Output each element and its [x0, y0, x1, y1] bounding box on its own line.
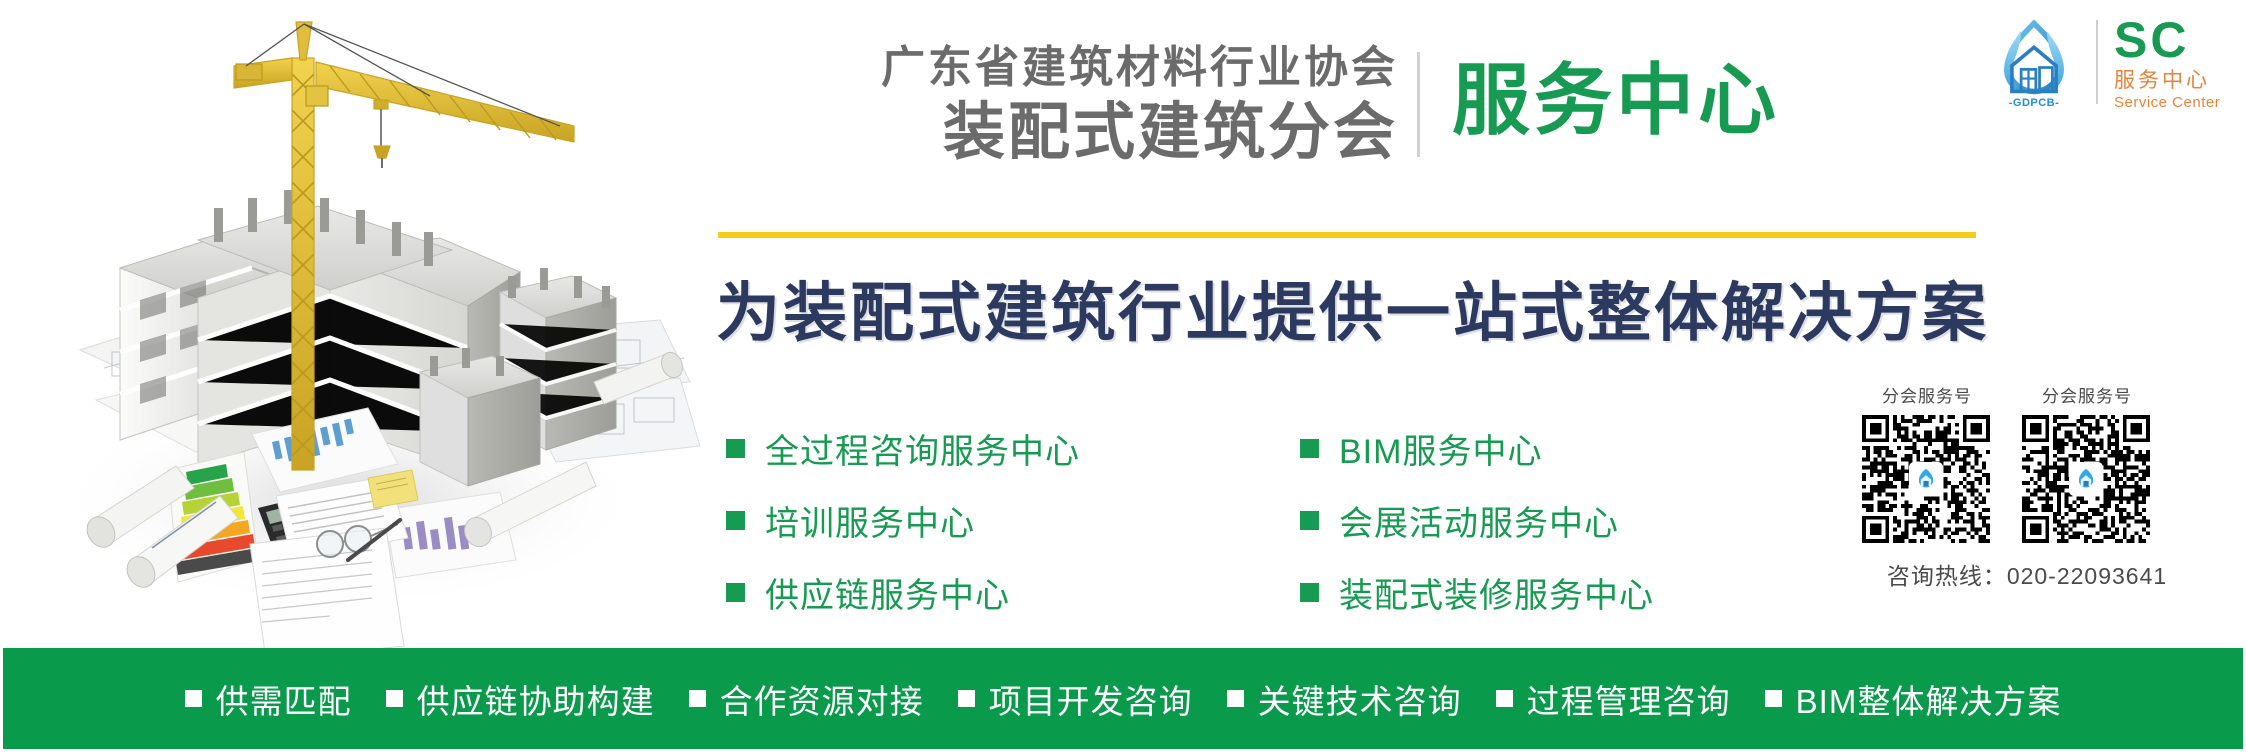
- qr-center-logo: [2069, 462, 2103, 496]
- square-bullet-icon: [1300, 511, 1319, 530]
- sc-service-center-logo: -GDPCB- SC 服务中心 Service Center: [1988, 14, 2220, 110]
- association-name: 广东省建筑材料行业协会: [838, 42, 1398, 94]
- service-item[interactable]: 供应链服务中心: [726, 556, 1080, 628]
- gold-divider-rule: [718, 232, 1976, 238]
- gdpcb-mini-icon: [2073, 466, 2099, 492]
- footer-item[interactable]: 过程管理咨询: [1496, 675, 1731, 723]
- footer-item-label: 供需匹配: [216, 675, 352, 723]
- service-item-label: BIM服务中心: [1339, 424, 1542, 473]
- square-bullet-icon: [386, 690, 403, 707]
- organisation-name-block: 广东省建筑材料行业协会 装配式建筑分会: [838, 42, 1398, 169]
- qr-contact-area: 分会服务号 分会服务号: [1862, 382, 2192, 591]
- square-bullet-icon: [185, 690, 202, 707]
- footer-item-label: 供应链协助构建: [417, 675, 655, 723]
- square-bullet-icon: [1300, 439, 1319, 458]
- sc-chinese-label: 服务中心: [2114, 70, 2220, 91]
- qr-cell: 分会服务号: [2022, 382, 2152, 543]
- square-bullet-icon: [958, 690, 975, 707]
- footer-item-label: 项目开发咨询: [989, 675, 1193, 723]
- sc-english-label: Service Center: [2114, 95, 2220, 110]
- square-bullet-icon: [1300, 583, 1319, 602]
- gdpcb-flame-house-icon: [1988, 16, 2080, 108]
- footer-item-label: 关键技术咨询: [1258, 675, 1462, 723]
- footer-item[interactable]: 供需匹配: [185, 675, 352, 723]
- service-item-label: 装配式装修服务中心: [1339, 568, 1654, 617]
- qr-cell: 分会服务号: [1862, 382, 1992, 543]
- service-center-heading: 服务中心: [1452, 52, 1780, 150]
- sc-letters: SC: [2114, 15, 2220, 65]
- tower-crane-svg: [0, 0, 700, 648]
- service-list-left: 全过程咨询服务中心 培训服务中心 供应链服务中心: [726, 412, 1080, 628]
- footer-item[interactable]: 供应链协助构建: [386, 675, 655, 723]
- qr-caption: 分会服务号: [1862, 382, 1992, 407]
- service-item-label: 全过程咨询服务中心: [765, 424, 1080, 473]
- gdpcb-mini-icon: [1913, 466, 1939, 492]
- square-bullet-icon: [1496, 690, 1513, 707]
- square-bullet-icon: [1227, 690, 1244, 707]
- qr-code-image[interactable]: [1862, 415, 1990, 543]
- square-bullet-icon: [726, 583, 745, 602]
- service-item[interactable]: 会展活动服务中心: [1300, 484, 1654, 556]
- qr-code-image[interactable]: [2022, 415, 2150, 543]
- main-slogan: 为装配式建筑行业提供一站式整体解决方案: [716, 262, 1989, 354]
- footer-item-label: 过程管理咨询: [1527, 675, 1731, 723]
- service-item-label: 培训服务中心: [765, 496, 975, 545]
- promotional-banner: 广东省建筑材料行业协会 装配式建筑分会 服务中心 为装配式建筑行业提供一站式整体…: [0, 0, 2246, 752]
- footer-item[interactable]: 关键技术咨询: [1227, 675, 1462, 723]
- construction-illustration: [0, 0, 700, 648]
- square-bullet-icon: [726, 511, 745, 530]
- logo-vertical-divider: [2096, 20, 2098, 104]
- gdpcb-caption: -GDPCB-: [1988, 97, 2080, 109]
- square-bullet-icon: [1765, 690, 1782, 707]
- footer-item-label: BIM整体解决方案: [1796, 675, 2062, 723]
- service-item[interactable]: 培训服务中心: [726, 484, 1080, 556]
- sc-text-block: SC 服务中心 Service Center: [2114, 15, 2220, 110]
- qr-center-logo: [1909, 462, 1943, 496]
- qr-caption: 分会服务号: [2022, 382, 2152, 407]
- branch-name: 装配式建筑分会: [838, 96, 1398, 169]
- footer-item[interactable]: 项目开发咨询: [958, 675, 1193, 723]
- square-bullet-icon: [726, 439, 745, 458]
- header-vertical-divider: [1417, 52, 1420, 157]
- footer-item[interactable]: BIM整体解决方案: [1765, 675, 2062, 723]
- gdpcb-logo-icon: -GDPCB-: [1988, 16, 2080, 108]
- square-bullet-icon: [689, 690, 706, 707]
- service-item[interactable]: 全过程咨询服务中心: [726, 412, 1080, 484]
- service-item-label: 供应链服务中心: [765, 568, 1010, 617]
- service-item-label: 会展活动服务中心: [1339, 496, 1619, 545]
- footer-item[interactable]: 合作资源对接: [689, 675, 924, 723]
- service-item[interactable]: BIM服务中心: [1300, 412, 1654, 484]
- footer-capabilities-bar: 供需匹配 供应链协助构建 合作资源对接 项目开发咨询 关键技术咨询 过程管理咨询…: [3, 648, 2243, 749]
- service-list-right: BIM服务中心 会展活动服务中心 装配式装修服务中心: [1300, 412, 1654, 628]
- hotline-text: 咨询热线：020-22093641: [1862, 557, 2192, 591]
- footer-item-label: 合作资源对接: [720, 675, 924, 723]
- service-item[interactable]: 装配式装修服务中心: [1300, 556, 1654, 628]
